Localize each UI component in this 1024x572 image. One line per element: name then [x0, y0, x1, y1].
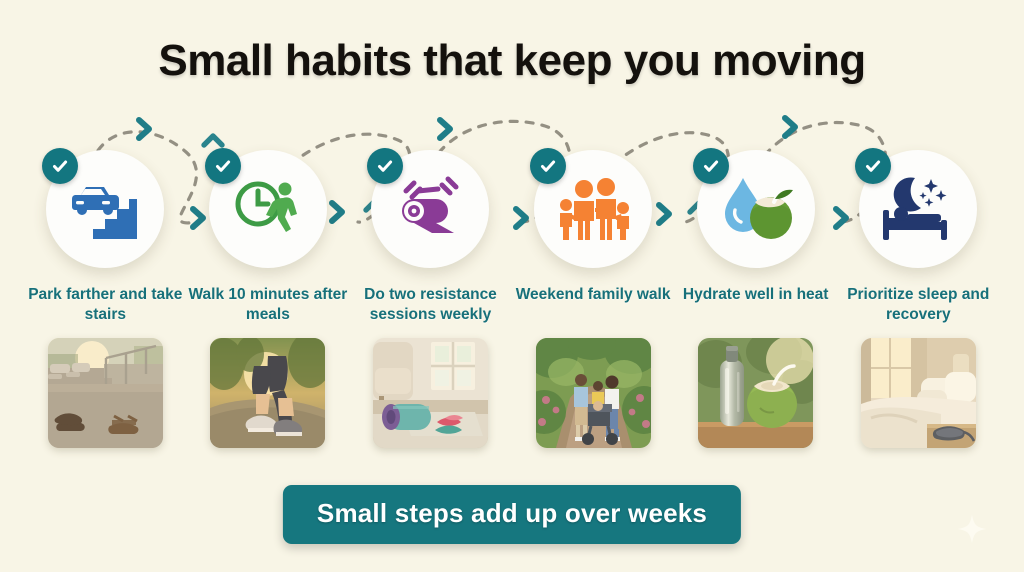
family-stroller-photo [536, 338, 651, 448]
sparkle-icon [956, 513, 988, 545]
step-caption-2: Walk 10 minutes after meals [188, 285, 348, 326]
step-item-1[interactable]: Park farther and take stairs [24, 150, 187, 326]
step-item-4[interactable]: Weekend family walk [512, 150, 675, 305]
step-circle-wrap-2 [209, 150, 327, 268]
step-circle-wrap-3 [371, 150, 489, 268]
step-caption-3: Do two resistance sessions weekly [350, 285, 510, 326]
water-drop-and-coconut-icon [717, 174, 795, 244]
star-icon [924, 179, 938, 193]
arrow-chevron-up-1 [204, 136, 222, 145]
coconut-icon [750, 186, 793, 239]
summary-banner-text: Small steps add up over weeks [317, 498, 707, 529]
photo-row [24, 338, 1000, 448]
step-check-badge-5 [693, 148, 729, 184]
arrow-chevron-3a [440, 120, 450, 138]
step-caption-4: Weekend family walk [513, 285, 673, 305]
step-item-3[interactable]: Do two resistance sessions weekly [349, 150, 512, 326]
summary-banner[interactable]: Small steps add up over weeks [283, 485, 741, 544]
bed-sleepmask-photo [861, 338, 976, 448]
family-icon [554, 176, 632, 242]
photo-cell-1 [24, 338, 187, 448]
car-and-stairs-icon [67, 173, 143, 245]
check-icon [538, 156, 558, 176]
step-check-badge-2 [205, 148, 241, 184]
check-icon [50, 156, 70, 176]
step-circle-wrap-1 [46, 150, 164, 268]
dumbbell-and-mat-icon [392, 173, 468, 245]
check-icon [213, 156, 233, 176]
clock-and-walker-icon [230, 173, 306, 245]
shoes-by-stairs-photo [48, 338, 163, 448]
bed-icon [883, 207, 947, 240]
step-caption-6: Prioritize sleep and recovery [838, 285, 998, 326]
step-circle-wrap-4 [534, 150, 652, 268]
step-item-6[interactable]: Prioritize sleep and recovery [837, 150, 1000, 326]
step-circle-wrap-6 [859, 150, 977, 268]
star-icon [920, 192, 927, 199]
step-circle-wrap-5 [697, 150, 815, 268]
check-icon [375, 156, 395, 176]
photo-cell-2 [187, 338, 350, 448]
bed-and-moon-icon [879, 174, 957, 244]
arrow-chevron-1a [139, 120, 149, 138]
steps-row: Park farther and take stairs [24, 150, 1000, 326]
star-icon [925, 198, 934, 207]
photo-cell-5 [674, 338, 837, 448]
step-caption-1: Park farther and take stairs [25, 285, 185, 326]
star-icon [936, 190, 947, 201]
check-icon [863, 156, 883, 176]
photo-cell-3 [349, 338, 512, 448]
photo-cell-4 [512, 338, 675, 448]
step-caption-5: Hydrate well in heat [676, 285, 836, 305]
step-item-5[interactable]: Hydrate well in heat [674, 150, 837, 305]
moon-icon [894, 177, 921, 211]
infographic-canvas: Small habits that keep you moving [0, 0, 1024, 572]
step-item-2[interactable]: Walk 10 minutes after meals [187, 150, 350, 326]
photo-cell-6 [837, 338, 1000, 448]
walking-legs-photo [210, 338, 325, 448]
bottle-and-coconut-photo [698, 338, 813, 448]
step-check-badge-6 [855, 148, 891, 184]
yoga-mat-photo [373, 338, 488, 448]
step-check-badge-4 [530, 148, 566, 184]
check-icon [701, 156, 721, 176]
